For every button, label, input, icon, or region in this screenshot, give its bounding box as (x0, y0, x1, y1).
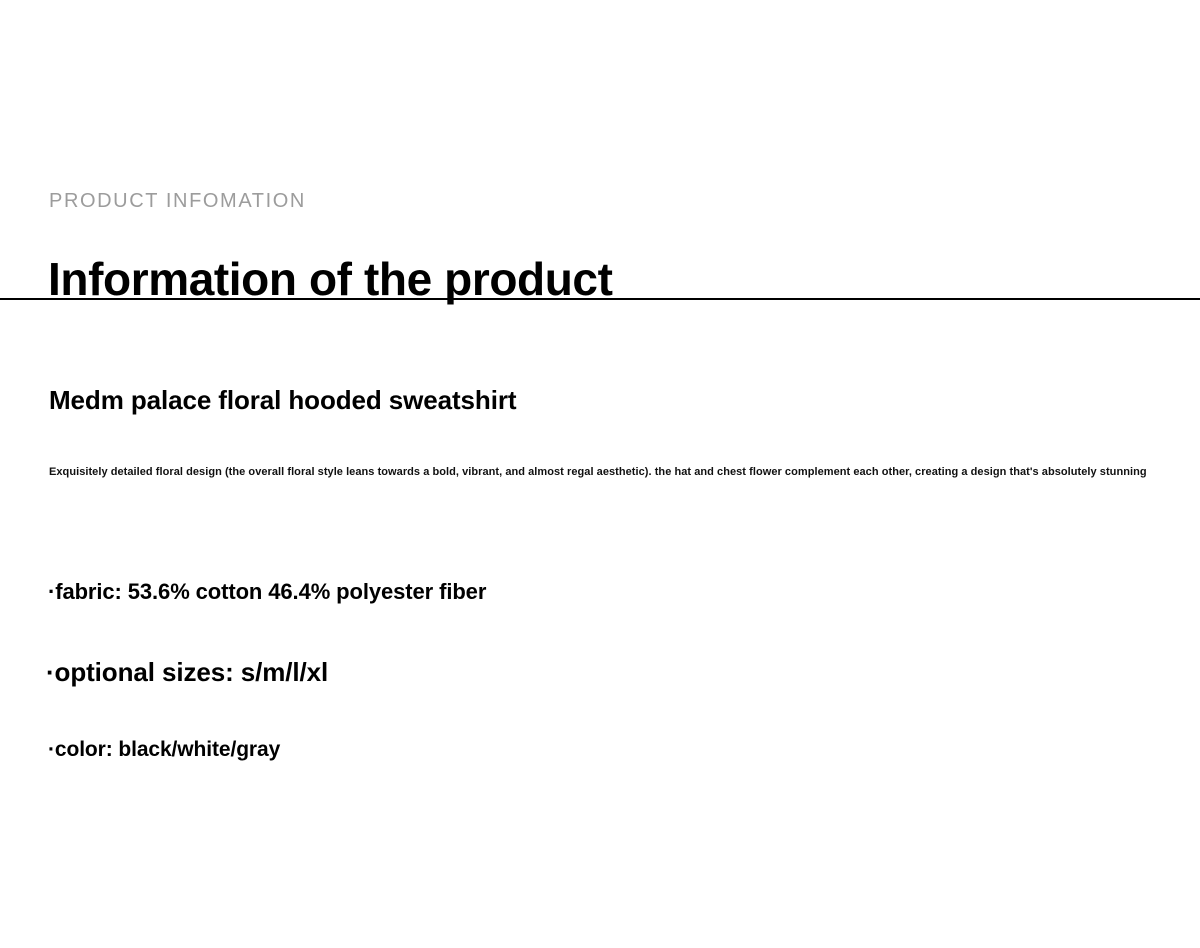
product-description: Exquisitely detailed floral design (the … (49, 464, 1159, 480)
spec-fabric: ·fabric: 53.6% cotton 46.4% polyester fi… (48, 577, 486, 607)
product-name: Medm palace floral hooded sweatshirt (49, 383, 516, 417)
spec-optional-sizes: ·optional sizes: s/m/l/xl (46, 654, 328, 690)
product-information-page: PRODUCT INFOMATION Information of the pr… (0, 0, 1200, 948)
header-divider (0, 298, 1200, 300)
spec-color: ·color: black/white/gray (48, 735, 280, 765)
page-eyebrow-label: PRODUCT INFOMATION (49, 189, 306, 213)
